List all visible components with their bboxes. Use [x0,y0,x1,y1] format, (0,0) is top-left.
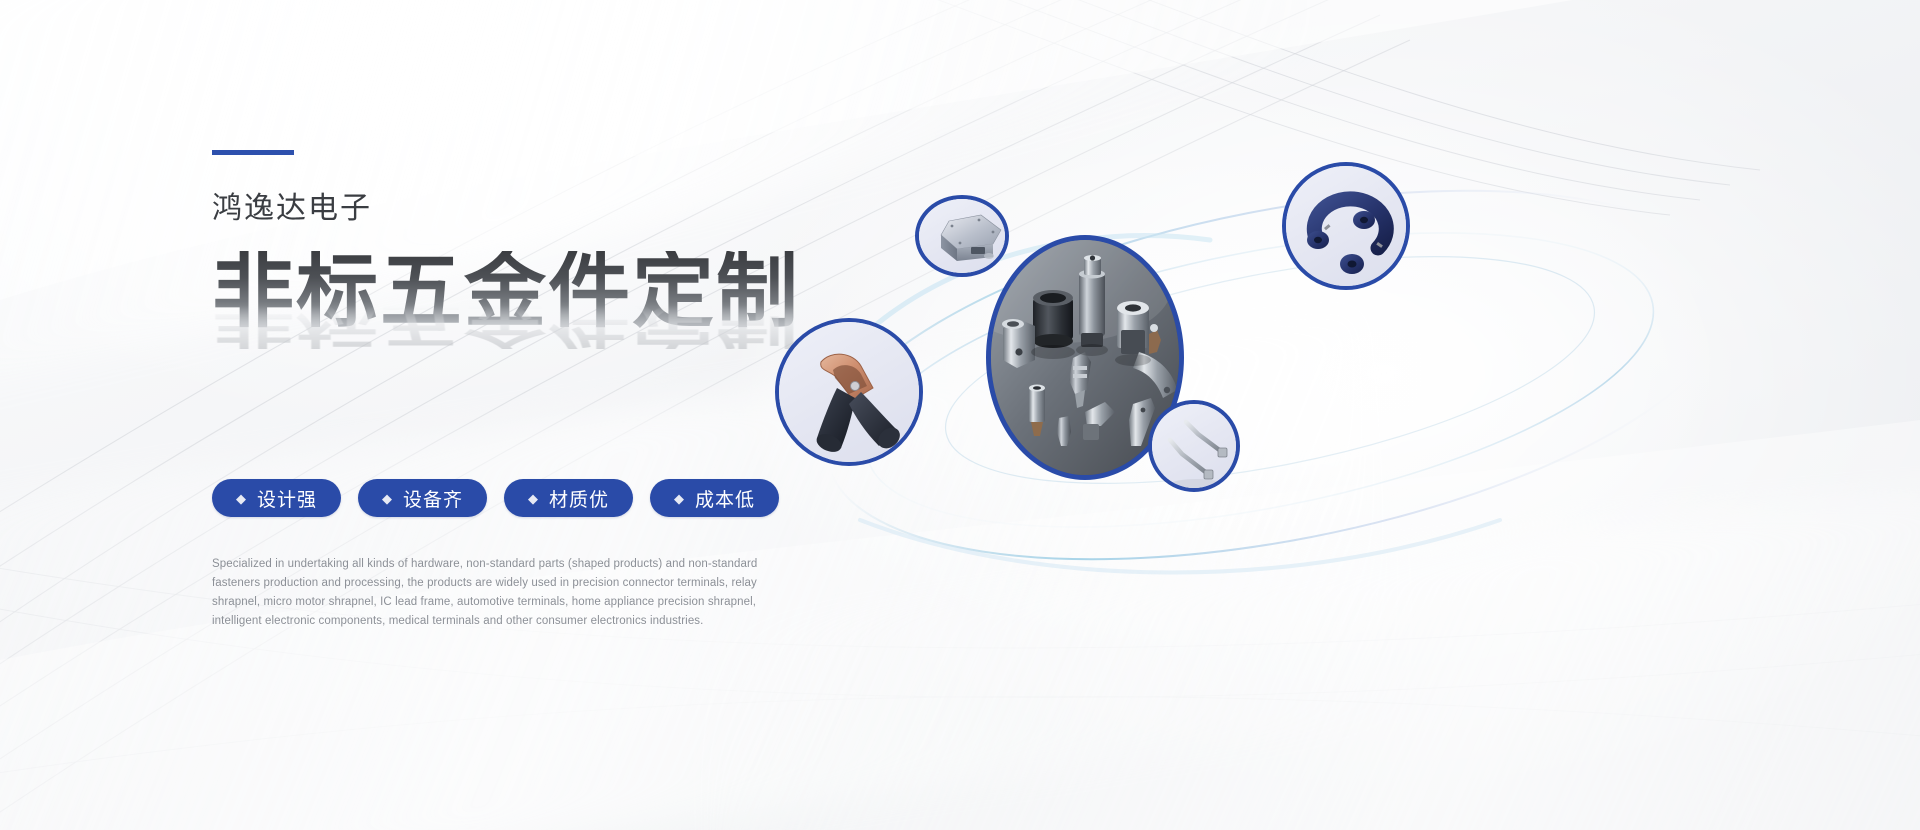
product-node-alligator-clamp[interactable] [775,318,923,466]
bent-terminal-pins-icon [1152,404,1240,492]
hero-text-column: 鸿逸达电子 非标五金件定制 非标五金件定制 ◆ 设计强 ◆ 设备齐 ◆ 材质优 … [212,150,832,631]
feature-pill-equipment[interactable]: ◆ 设备齐 [358,479,487,517]
hero-banner: 鸿逸达电子 非标五金件定制 非标五金件定制 ◆ 设计强 ◆ 设备齐 ◆ 材质优 … [0,0,1920,830]
brand-name: 鸿逸达电子 [212,191,832,227]
accent-bar [212,150,294,155]
feature-pill-label: 设备齐 [403,485,463,512]
feature-pill-label: 设计强 [257,485,317,512]
product-showcase [740,120,1890,640]
diamond-icon: ◆ [674,492,685,505]
product-node-terminal-pins[interactable] [1148,400,1240,492]
headline-reflection: 非标五金件定制 [212,298,800,349]
feature-pill-list: ◆ 设计强 ◆ 设备齐 ◆ 材质优 ◆ 成本低 [212,479,832,517]
feature-pill-design[interactable]: ◆ 设计强 [212,479,341,517]
company-description: Specialized in undertaking all kinds of … [212,555,787,631]
feature-pill-material[interactable]: ◆ 材质优 [504,479,633,517]
diamond-icon: ◆ [236,492,247,505]
feature-pill-label: 材质优 [549,485,609,512]
diamond-icon: ◆ [382,492,393,505]
product-node-c-bracket[interactable] [1282,162,1410,290]
blue-c-bracket-icon [1286,166,1410,290]
copper-alligator-clamp-icon [779,322,923,466]
diamond-icon: ◆ [528,492,539,505]
headline-wrapper: 非标五金件定制 非标五金件定制 [212,251,832,401]
